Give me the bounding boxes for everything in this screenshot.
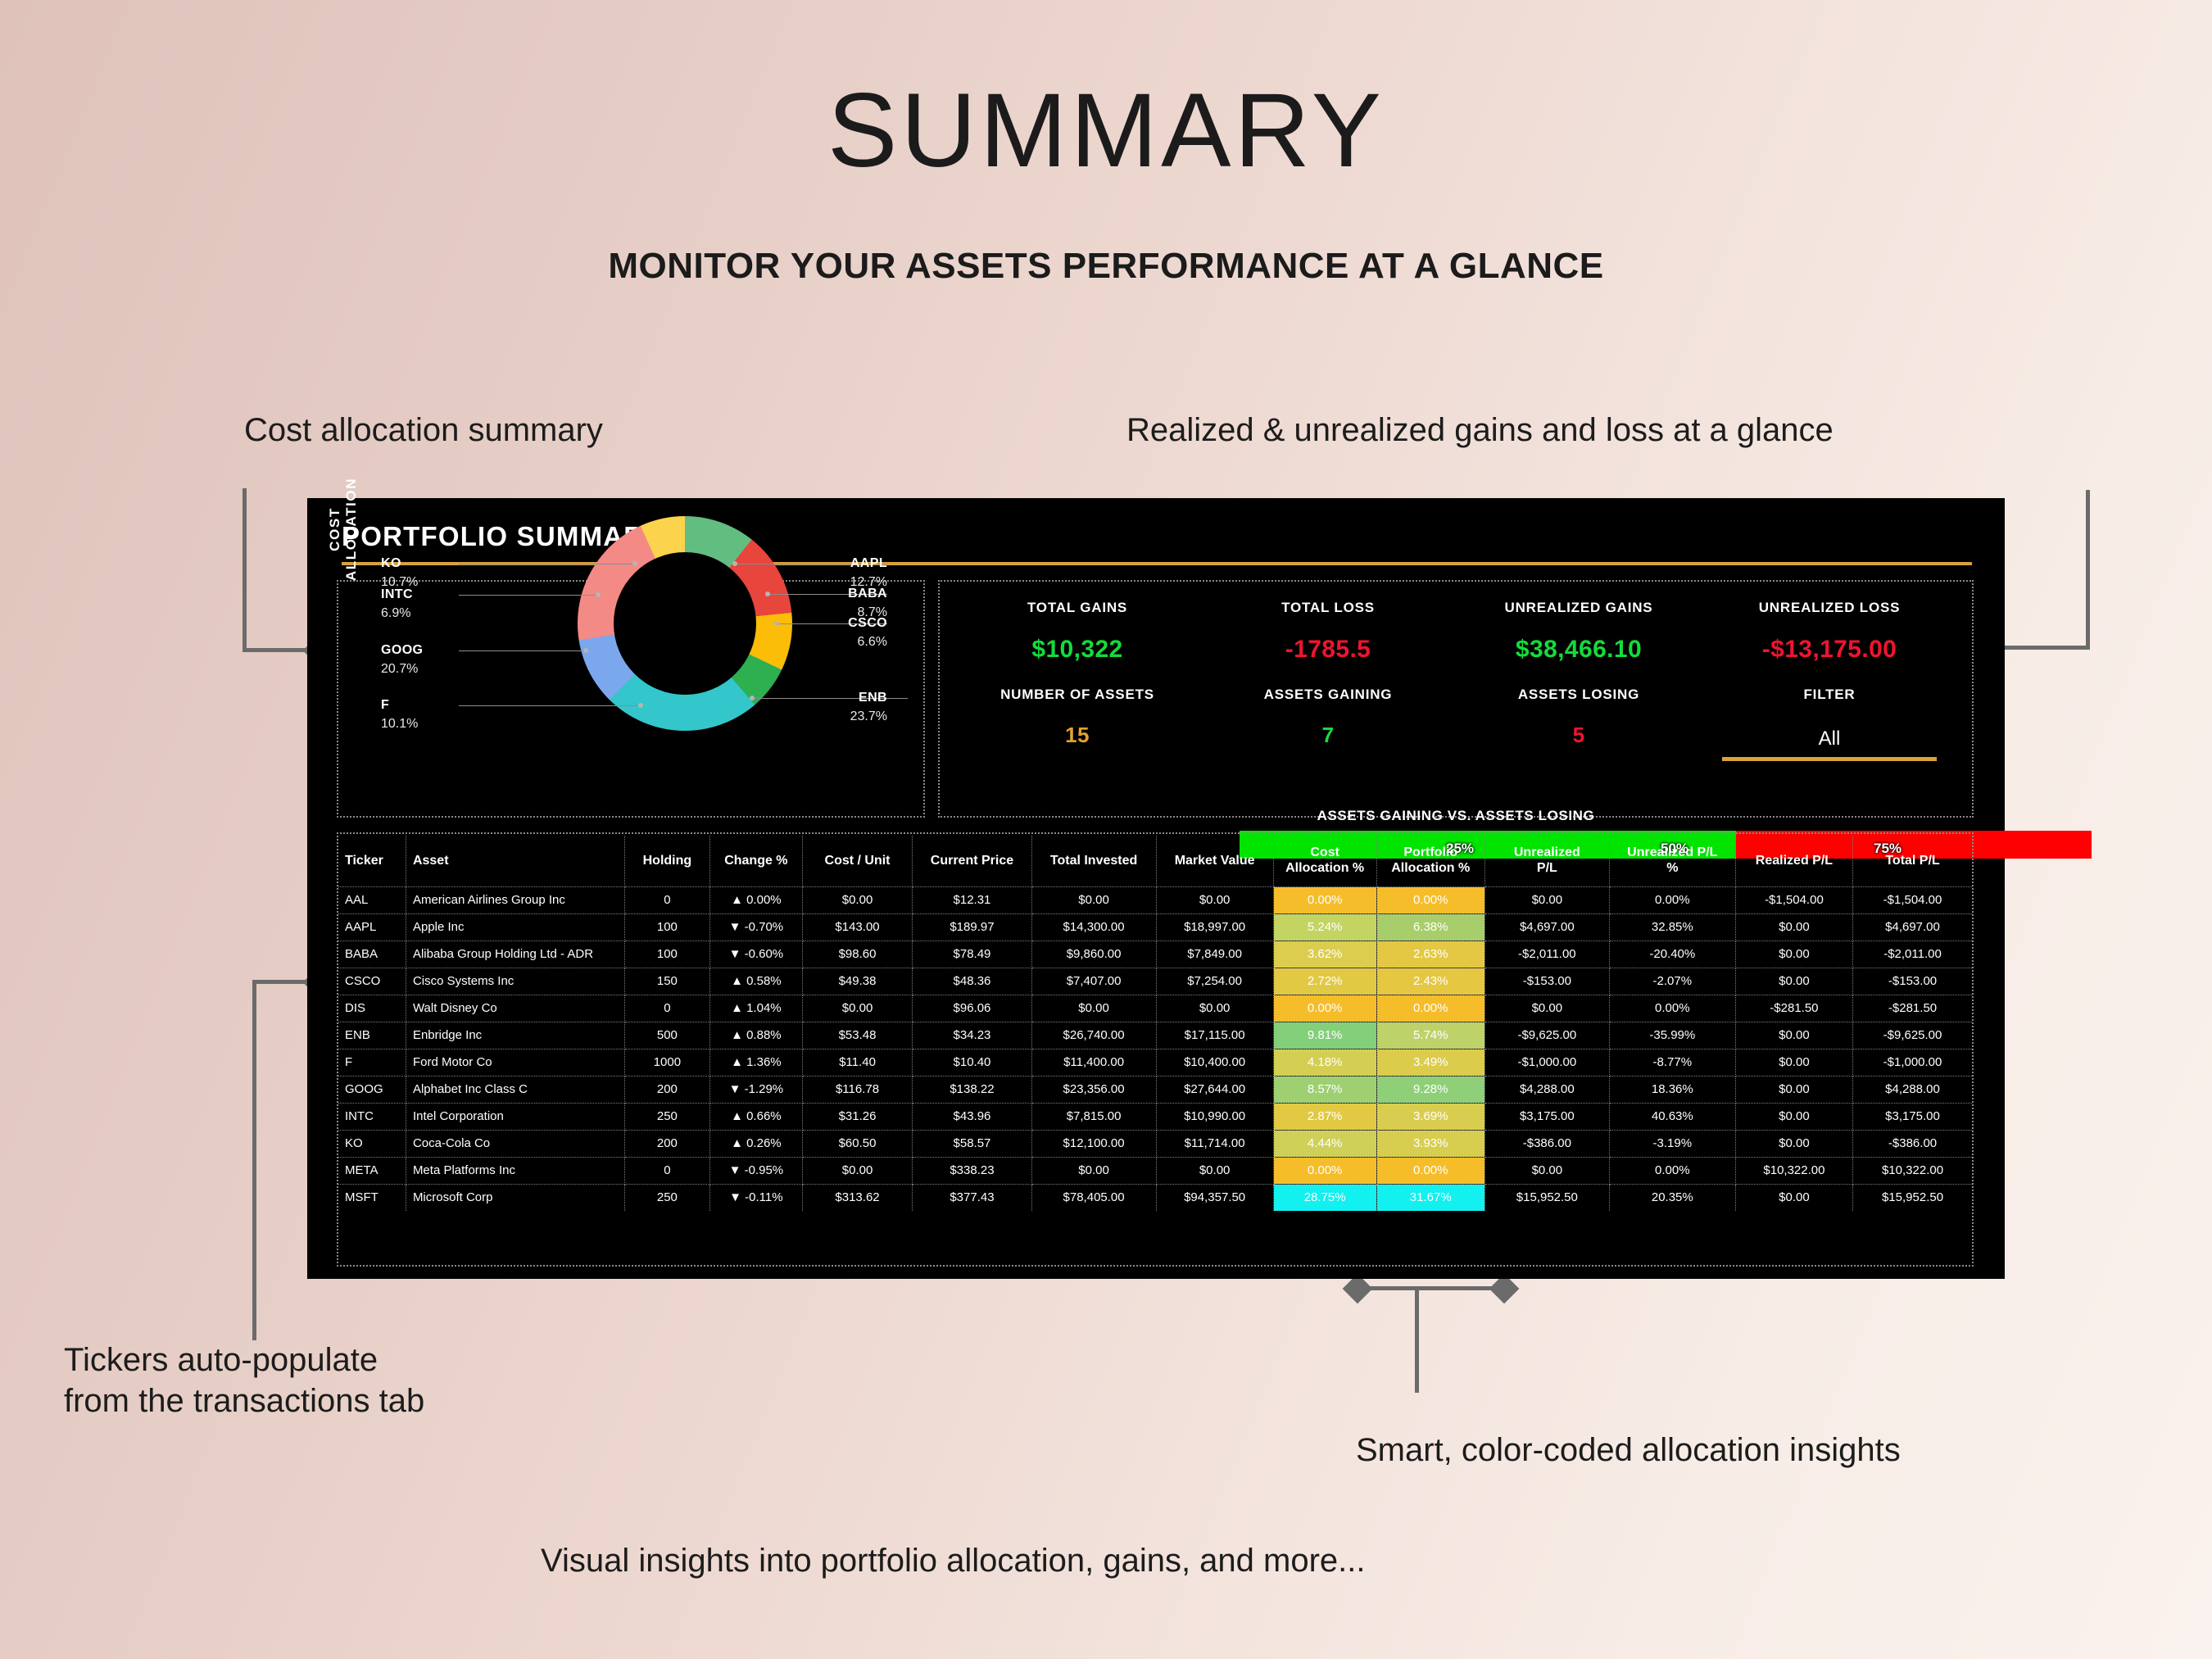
kpi-total-loss: TOTAL LOSS -1785.5: [1205, 600, 1451, 664]
cell-unrealized-pl: -$386.00: [1484, 1130, 1609, 1157]
cell-realized-pl: $0.00: [1735, 968, 1852, 995]
cell-total-pl: -$2,011.00: [1853, 941, 1972, 968]
callout-gains-loss: Realized & unrealized gains and loss at …: [1126, 410, 1834, 451]
callout-insights: Smart, color-coded allocation insights: [1356, 1430, 1901, 1471]
kpi-total-loss-label: TOTAL LOSS: [1205, 600, 1451, 616]
cell-realized-pl: $0.00: [1735, 941, 1852, 968]
cell-holding: 1000: [624, 1049, 709, 1076]
cell-cost-allocation: 0.00%: [1273, 1157, 1376, 1184]
cell-unrealized-pl-pct: 20.35%: [1609, 1184, 1735, 1211]
kpi-total-gains-label: TOTAL GAINS: [954, 600, 1200, 616]
cell-total-invested: $0.00: [1031, 1157, 1156, 1184]
gaining-vs-losing-title: ASSETS GAINING VS. ASSETS LOSING: [938, 808, 1974, 824]
cell-market-value: $10,990.00: [1156, 1103, 1273, 1130]
cell-current-price: $377.43: [913, 1184, 1031, 1211]
cell-unrealized-pl-pct: 18.36%: [1609, 1076, 1735, 1103]
donut-label-f: F 10.1%: [381, 696, 418, 733]
cell-asset: Apple Inc: [406, 913, 624, 941]
kpi-unrealized-loss-value: -$13,175.00: [1707, 636, 1952, 664]
cell-cost-allocation: 0.00%: [1273, 886, 1376, 913]
cell-holding: 0: [624, 995, 709, 1022]
cell-unrealized-pl-pct: -35.99%: [1609, 1022, 1735, 1049]
col-realized-pl[interactable]: Realized P/L: [1735, 836, 1852, 886]
table-row[interactable]: DISWalt Disney Co0▲ 1.04%$0.00$96.06$0.0…: [338, 995, 1972, 1022]
cell-current-price: $338.23: [913, 1157, 1031, 1184]
donut-label-goog-ticker: GOOG: [381, 641, 423, 660]
kpi-unrealized-gains-label: UNREALIZED GAINS: [1456, 600, 1702, 616]
cell-current-price: $58.57: [913, 1130, 1031, 1157]
cell-change-pct: ▼ -0.60%: [709, 941, 802, 968]
kpi-unrealized-loss-label: UNREALIZED LOSS: [1707, 600, 1952, 616]
cell-change-pct: ▲ 0.26%: [709, 1130, 802, 1157]
cell-current-price: $43.96: [913, 1103, 1031, 1130]
donut-label-ko-ticker: KO: [381, 554, 418, 573]
cell-holding: 250: [624, 1184, 709, 1211]
cell-total-invested: $9,860.00: [1031, 941, 1156, 968]
leader-line-tickers-vertical: [252, 980, 256, 1340]
cell-ticker: DIS: [338, 995, 406, 1022]
col-total-invested[interactable]: Total Invested: [1031, 836, 1156, 886]
cell-cost-per-unit: $31.26: [802, 1103, 913, 1130]
cell-portfolio-allocation: 9.28%: [1376, 1076, 1484, 1103]
portfolio-dashboard: PORTFOLIO SUMMARY COST ALLOCATION KO 10.…: [307, 498, 2005, 1279]
donut-label-f-ticker: F: [381, 696, 418, 714]
donut-label-csco: CSCO 6.6%: [797, 614, 887, 651]
cell-asset: Alphabet Inc Class C: [406, 1076, 624, 1103]
donut-leader-f: [459, 705, 641, 706]
cell-portfolio-allocation: 3.69%: [1376, 1103, 1484, 1130]
kpi-assets-losing: ASSETS LOSING 5: [1456, 687, 1702, 748]
donut-label-goog: GOOG 20.7%: [381, 641, 423, 678]
donut-label-csco-ticker: CSCO: [797, 614, 887, 632]
cell-holding: 0: [624, 886, 709, 913]
cell-cost-allocation: 0.00%: [1273, 995, 1376, 1022]
donut-dot-intc: [596, 592, 601, 597]
cell-ticker: KO: [338, 1130, 406, 1157]
cell-unrealized-pl: $0.00: [1484, 995, 1609, 1022]
cell-holding: 150: [624, 968, 709, 995]
cell-realized-pl: $0.00: [1735, 1130, 1852, 1157]
cell-cost-allocation: 8.57%: [1273, 1076, 1376, 1103]
cell-realized-pl: $0.00: [1735, 1076, 1852, 1103]
cell-unrealized-pl-pct: 0.00%: [1609, 886, 1735, 913]
cell-asset: Cisco Systems Inc: [406, 968, 624, 995]
col-holding[interactable]: Holding: [624, 836, 709, 886]
cell-total-pl: -$386.00: [1853, 1130, 1972, 1157]
cell-portfolio-allocation: 2.43%: [1376, 968, 1484, 995]
cell-ticker: CSCO: [338, 968, 406, 995]
cell-portfolio-allocation: 31.67%: [1376, 1184, 1484, 1211]
cell-change-pct: ▲ 1.36%: [709, 1049, 802, 1076]
cell-cost-per-unit: $49.38: [802, 968, 913, 995]
kpi-number-of-assets-value: 15: [954, 723, 1200, 748]
cell-holding: 250: [624, 1103, 709, 1130]
cell-realized-pl: $0.00: [1735, 1049, 1852, 1076]
filter-underline: [1722, 757, 1937, 761]
col-cost-per-unit[interactable]: Cost / Unit: [802, 836, 913, 886]
holdings-table: Ticker Asset Holding Change % Cost / Uni…: [338, 836, 1972, 1211]
filter-selected-value[interactable]: All: [1707, 728, 1952, 750]
donut-label-baba-ticker: BABA: [797, 584, 887, 603]
cell-total-invested: $7,407.00: [1031, 968, 1156, 995]
cell-realized-pl: -$281.50: [1735, 995, 1852, 1022]
cell-cost-per-unit: $60.50: [802, 1130, 913, 1157]
donut-dot-f: [638, 703, 643, 708]
col-current-price[interactable]: Current Price: [913, 836, 1031, 886]
cell-unrealized-pl: $0.00: [1484, 1157, 1609, 1184]
table-row[interactable]: INTCIntel Corporation250▲ 0.66%$31.26$43…: [338, 1103, 1972, 1130]
table-row[interactable]: FFord Motor Co1000▲ 1.36%$11.40$10.40$11…: [338, 1049, 1972, 1076]
table-row[interactable]: KOCoca-Cola Co200▲ 0.26%$60.50$58.57$12,…: [338, 1130, 1972, 1157]
cell-unrealized-pl: -$1,000.00: [1484, 1049, 1609, 1076]
cell-ticker: META: [338, 1157, 406, 1184]
cell-change-pct: ▲ 0.58%: [709, 968, 802, 995]
cell-realized-pl: $0.00: [1735, 913, 1852, 941]
donut-dot-baba: [765, 592, 770, 596]
cell-market-value: $0.00: [1156, 995, 1273, 1022]
cell-portfolio-allocation: 6.38%: [1376, 913, 1484, 941]
donut-leader-ko: [459, 564, 635, 564]
cell-unrealized-pl-pct: -20.40%: [1609, 941, 1735, 968]
cell-current-price: $96.06: [913, 995, 1031, 1022]
cell-total-invested: $12,100.00: [1031, 1130, 1156, 1157]
cell-change-pct: ▲ 1.04%: [709, 995, 802, 1022]
col-asset[interactable]: Asset: [406, 836, 624, 886]
cell-cost-per-unit: $0.00: [802, 995, 913, 1022]
cell-portfolio-allocation: 5.74%: [1376, 1022, 1484, 1049]
cell-total-invested: $26,740.00: [1031, 1022, 1156, 1049]
cell-unrealized-pl: $0.00: [1484, 886, 1609, 913]
col-total-pl[interactable]: Total P/L: [1853, 836, 1972, 886]
cell-total-pl: -$153.00: [1853, 968, 1972, 995]
filter-label: FILTER: [1707, 687, 1952, 703]
cell-cost-per-unit: $313.62: [802, 1184, 913, 1211]
cell-holding: 100: [624, 941, 709, 968]
table-row[interactable]: AALAmerican Airlines Group Inc0▲ 0.00%$0…: [338, 886, 1972, 913]
kpi-number-of-assets: NUMBER OF ASSETS 15: [954, 687, 1200, 748]
cell-market-value: $94,357.50: [1156, 1184, 1273, 1211]
cell-total-pl: -$1,504.00: [1853, 886, 1972, 913]
cell-unrealized-pl: -$9,625.00: [1484, 1022, 1609, 1049]
donut-dot-csco: [774, 621, 779, 626]
donut-dot-goog: [583, 648, 588, 653]
cell-realized-pl: $0.00: [1735, 1103, 1852, 1130]
kpi-unrealized-gains-value: $38,466.10: [1456, 636, 1702, 664]
cell-change-pct: ▲ 0.88%: [709, 1022, 802, 1049]
kpi-assets-gaining-label: ASSETS GAINING: [1205, 687, 1451, 703]
cell-change-pct: ▲ 0.66%: [709, 1103, 802, 1130]
cell-current-price: $12.31: [913, 886, 1031, 913]
cell-cost-allocation: 2.87%: [1273, 1103, 1376, 1130]
donut-label-intc-ticker: INTC: [381, 585, 413, 604]
cell-total-pl: -$1,000.00: [1853, 1049, 1972, 1076]
cell-realized-pl: $0.00: [1735, 1022, 1852, 1049]
cell-unrealized-pl-pct: -2.07%: [1609, 968, 1735, 995]
cell-total-pl: $15,952.50: [1853, 1184, 1972, 1211]
cell-current-price: $10.40: [913, 1049, 1031, 1076]
cell-market-value: $27,644.00: [1156, 1076, 1273, 1103]
cell-asset: Intel Corporation: [406, 1103, 624, 1130]
cell-cost-allocation: 2.72%: [1273, 968, 1376, 995]
kpi-assets-losing-label: ASSETS LOSING: [1456, 687, 1702, 703]
donut-label-f-pct: 10.1%: [381, 714, 418, 733]
cell-change-pct: ▼ -0.11%: [709, 1184, 802, 1211]
donut-center-hole: [614, 552, 756, 695]
cell-total-pl: $10,322.00: [1853, 1157, 1972, 1184]
table-row[interactable]: CSCOCisco Systems Inc150▲ 0.58%$49.38$48…: [338, 968, 1972, 995]
donut-label-aapl-ticker: AAPL: [797, 554, 887, 573]
donut-label-csco-pct: 6.6%: [797, 632, 887, 651]
cell-unrealized-pl: $4,288.00: [1484, 1076, 1609, 1103]
cell-total-invested: $78,405.00: [1031, 1184, 1156, 1211]
cell-market-value: $7,254.00: [1156, 968, 1273, 995]
kpi-unrealized-gains: UNREALIZED GAINS $38,466.10: [1456, 600, 1702, 664]
cell-unrealized-pl-pct: 32.85%: [1609, 913, 1735, 941]
callout-visual: Visual insights into portfolio allocatio…: [541, 1540, 1366, 1581]
col-ticker[interactable]: Ticker: [338, 836, 406, 886]
cell-cost-per-unit: $116.78: [802, 1076, 913, 1103]
donut-dot-enb: [750, 696, 755, 700]
cell-total-invested: $11,400.00: [1031, 1049, 1156, 1076]
cell-total-pl: $4,697.00: [1853, 913, 1972, 941]
cell-asset: Coca-Cola Co: [406, 1130, 624, 1157]
cell-ticker: AAL: [338, 886, 406, 913]
cell-total-invested: $14,300.00: [1031, 913, 1156, 941]
col-portfolio-allocation[interactable]: Portfolio Allocation %: [1376, 836, 1484, 886]
donut-dot-ko: [632, 561, 637, 566]
table-row[interactable]: GOOGAlphabet Inc Class C200▼ -1.29%$116.…: [338, 1076, 1972, 1103]
col-unrealized-pl[interactable]: Unrealized P/L: [1484, 836, 1609, 886]
cell-total-pl: -$9,625.00: [1853, 1022, 1972, 1049]
cell-current-price: $48.36: [913, 968, 1031, 995]
filter-control[interactable]: FILTER All: [1707, 687, 1952, 761]
cell-change-pct: ▼ -0.70%: [709, 913, 802, 941]
cell-market-value: $0.00: [1156, 886, 1273, 913]
page-title: SUMMARY: [0, 79, 2212, 184]
cell-unrealized-pl-pct: 0.00%: [1609, 995, 1735, 1022]
cell-portfolio-allocation: 0.00%: [1376, 886, 1484, 913]
cell-current-price: $138.22: [913, 1076, 1031, 1103]
cell-ticker: AAPL: [338, 913, 406, 941]
cell-unrealized-pl: $15,952.50: [1484, 1184, 1609, 1211]
cell-ticker: BABA: [338, 941, 406, 968]
cell-ticker: F: [338, 1049, 406, 1076]
cell-asset: Alibaba Group Holding Ltd - ADR: [406, 941, 624, 968]
cell-change-pct: ▲ 0.00%: [709, 886, 802, 913]
cell-cost-allocation: 28.75%: [1273, 1184, 1376, 1211]
cell-change-pct: ▼ -0.95%: [709, 1157, 802, 1184]
cell-unrealized-pl: -$153.00: [1484, 968, 1609, 995]
cell-market-value: $17,115.00: [1156, 1022, 1273, 1049]
table-header-row: Ticker Asset Holding Change % Cost / Uni…: [338, 836, 1972, 886]
cell-unrealized-pl-pct: 0.00%: [1609, 1157, 1735, 1184]
kpi-total-loss-value: -1785.5: [1205, 636, 1451, 664]
holdings-table-body: AALAmerican Airlines Group Inc0▲ 0.00%$0…: [338, 886, 1972, 1211]
cell-ticker: INTC: [338, 1103, 406, 1130]
kpi-total-gains: TOTAL GAINS $10,322: [954, 600, 1200, 664]
kpi-total-gains-value: $10,322: [954, 636, 1200, 664]
cell-unrealized-pl: -$2,011.00: [1484, 941, 1609, 968]
donut-label-enb-pct: 23.7%: [797, 707, 887, 726]
table-row[interactable]: ENBEnbridge Inc500▲ 0.88%$53.48$34.23$26…: [338, 1022, 1972, 1049]
cell-ticker: GOOG: [338, 1076, 406, 1103]
cell-asset: Enbridge Inc: [406, 1022, 624, 1049]
cell-current-price: $189.97: [913, 913, 1031, 941]
page-subtitle: MONITOR YOUR ASSETS PERFORMANCE AT A GLA…: [0, 246, 2212, 287]
cell-unrealized-pl-pct: -8.77%: [1609, 1049, 1735, 1076]
kpi-assets-gaining-value: 7: [1205, 723, 1451, 748]
cell-cost-allocation: 4.18%: [1273, 1049, 1376, 1076]
cell-unrealized-pl: $3,175.00: [1484, 1103, 1609, 1130]
cell-total-pl: -$281.50: [1853, 995, 1972, 1022]
kpi-assets-gaining: ASSETS GAINING 7: [1205, 687, 1451, 748]
donut-label-goog-pct: 20.7%: [381, 660, 423, 678]
cell-asset: Meta Platforms Inc: [406, 1157, 624, 1184]
kpi-unrealized-loss: UNREALIZED LOSS -$13,175.00: [1707, 600, 1952, 664]
cell-unrealized-pl: $4,697.00: [1484, 913, 1609, 941]
cell-change-pct: ▼ -1.29%: [709, 1076, 802, 1103]
cell-holding: 0: [624, 1157, 709, 1184]
donut-label-enb-ticker: ENB: [797, 688, 887, 707]
callout-cost-allocation: Cost allocation summary: [244, 410, 603, 451]
cell-asset: Microsoft Corp: [406, 1184, 624, 1211]
cell-total-pl: $4,288.00: [1853, 1076, 1972, 1103]
cell-market-value: $11,714.00: [1156, 1130, 1273, 1157]
cell-cost-allocation: 9.81%: [1273, 1022, 1376, 1049]
cell-cost-per-unit: $143.00: [802, 913, 913, 941]
cell-cost-allocation: 5.24%: [1273, 913, 1376, 941]
donut-label-intc-pct: 6.9%: [381, 604, 413, 623]
cell-total-invested: $0.00: [1031, 886, 1156, 913]
cell-market-value: $18,997.00: [1156, 913, 1273, 941]
cost-allocation-axis-label: COST ALLOCATION: [327, 464, 360, 595]
cell-portfolio-allocation: 3.93%: [1376, 1130, 1484, 1157]
callout-tickers: Tickers auto-populate from the transacti…: [64, 1339, 424, 1421]
cell-unrealized-pl-pct: 40.63%: [1609, 1103, 1735, 1130]
cell-current-price: $34.23: [913, 1022, 1031, 1049]
cell-holding: 100: [624, 913, 709, 941]
col-cost-allocation[interactable]: Cost Allocation %: [1273, 836, 1376, 886]
cell-market-value: $0.00: [1156, 1157, 1273, 1184]
kpi-assets-losing-value: 5: [1456, 723, 1702, 748]
cell-asset: Ford Motor Co: [406, 1049, 624, 1076]
cell-total-pl: $3,175.00: [1853, 1103, 1972, 1130]
cell-asset: Walt Disney Co: [406, 995, 624, 1022]
cell-realized-pl: $0.00: [1735, 1184, 1852, 1211]
kpi-number-of-assets-label: NUMBER OF ASSETS: [954, 687, 1200, 703]
cell-portfolio-allocation: 0.00%: [1376, 1157, 1484, 1184]
table-row[interactable]: AAPLApple Inc100▼ -0.70%$143.00$189.97$1…: [338, 913, 1972, 941]
table-row[interactable]: MSFTMicrosoft Corp250▼ -0.11%$313.62$377…: [338, 1184, 1972, 1211]
cell-holding: 200: [624, 1076, 709, 1103]
donut-dot-aapl: [732, 561, 737, 566]
col-change-pct[interactable]: Change %: [709, 836, 802, 886]
cell-total-invested: $0.00: [1031, 995, 1156, 1022]
cell-unrealized-pl-pct: -3.19%: [1609, 1130, 1735, 1157]
donut-label-intc: INTC 6.9%: [381, 585, 413, 623]
cell-cost-per-unit: $0.00: [802, 886, 913, 913]
cell-cost-per-unit: $98.60: [802, 941, 913, 968]
cell-realized-pl: $10,322.00: [1735, 1157, 1852, 1184]
donut-leader-intc: [459, 595, 598, 596]
cell-ticker: ENB: [338, 1022, 406, 1049]
table-row[interactable]: BABAAlibaba Group Holding Ltd - ADR100▼ …: [338, 941, 1972, 968]
cell-current-price: $78.49: [913, 941, 1031, 968]
cell-holding: 500: [624, 1022, 709, 1049]
cell-portfolio-allocation: 3.49%: [1376, 1049, 1484, 1076]
cell-portfolio-allocation: 2.63%: [1376, 941, 1484, 968]
col-unrealized-pl-pct[interactable]: Unrealized P/L %: [1609, 836, 1735, 886]
leader-line-gains-vertical: [2086, 490, 2090, 650]
cell-cost-allocation: 3.62%: [1273, 941, 1376, 968]
cell-portfolio-allocation: 0.00%: [1376, 995, 1484, 1022]
cell-total-invested: $23,356.00: [1031, 1076, 1156, 1103]
donut-leader-goog: [459, 650, 586, 651]
cell-holding: 200: [624, 1130, 709, 1157]
leader-line-insights-vertical: [1415, 1286, 1419, 1393]
cell-cost-per-unit: $11.40: [802, 1049, 913, 1076]
cell-cost-per-unit: $0.00: [802, 1157, 913, 1184]
cell-cost-allocation: 4.44%: [1273, 1130, 1376, 1157]
cell-market-value: $10,400.00: [1156, 1049, 1273, 1076]
cell-asset: American Airlines Group Inc: [406, 886, 624, 913]
cell-realized-pl: -$1,504.00: [1735, 886, 1852, 913]
cell-market-value: $7,849.00: [1156, 941, 1273, 968]
cell-cost-per-unit: $53.48: [802, 1022, 913, 1049]
table-row[interactable]: METAMeta Platforms Inc0▼ -0.95%$0.00$338…: [338, 1157, 1972, 1184]
cell-total-invested: $7,815.00: [1031, 1103, 1156, 1130]
donut-label-enb: ENB 23.7%: [797, 688, 887, 726]
cell-ticker: MSFT: [338, 1184, 406, 1211]
leader-line-cost-vertical: [243, 488, 247, 652]
col-market-value[interactable]: Market Value: [1156, 836, 1273, 886]
